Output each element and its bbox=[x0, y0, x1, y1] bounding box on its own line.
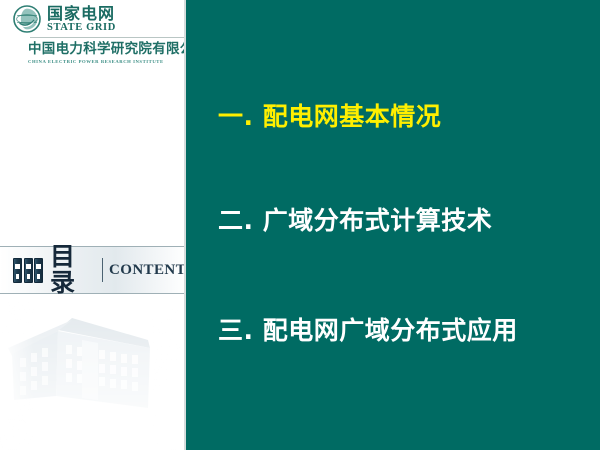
logo-divider-rule bbox=[30, 37, 185, 38]
state-grid-wordmark: 国家电网 STATE GRID bbox=[47, 4, 116, 34]
state-grid-globe-emblem-icon bbox=[13, 5, 41, 33]
company-name-cn: 国家电网 bbox=[47, 5, 116, 22]
institute-name-en: CHINA ELECTRIC POWER RESEARCH INSTITUTE bbox=[28, 58, 186, 65]
content-title-cn: 目录 bbox=[50, 244, 97, 296]
agenda-item-2[interactable]: 二. 广域分布式计算技术 bbox=[218, 206, 492, 236]
agenda-background: 一. 配电网基本情况 二. 广域分布式计算技术 三. 配电网广域分布式应用 bbox=[186, 3, 600, 450]
binders-icon bbox=[13, 257, 47, 283]
office-building-photo-watermark bbox=[0, 300, 186, 450]
presentation-slide: 国家电网 STATE GRID 中国电力科学研究院有限公司 CHINA ELEC… bbox=[0, 0, 600, 450]
content-title-separator bbox=[102, 258, 103, 282]
content-title-en: CONTENT bbox=[109, 262, 186, 278]
left-branding-panel: 国家电网 STATE GRID 中国电力科学研究院有限公司 CHINA ELEC… bbox=[0, 0, 186, 450]
institute-name-cn: 中国电力科学研究院有限公司 bbox=[28, 42, 186, 57]
institute-name-block: 中国电力科学研究院有限公司 CHINA ELECTRIC POWER RESEA… bbox=[28, 42, 186, 65]
agenda-item-1[interactable]: 一. 配电网基本情况 bbox=[218, 102, 441, 132]
agenda-item-3[interactable]: 三. 配电网广域分布式应用 bbox=[218, 316, 518, 346]
company-name-en: STATE GRID bbox=[47, 22, 116, 34]
content-label-band: 目录 CONTENT bbox=[0, 246, 186, 294]
agenda-list: 一. 配电网基本情况 二. 广域分布式计算技术 三. 配电网广域分布式应用 bbox=[186, 3, 600, 450]
state-grid-logo: 国家电网 STATE GRID bbox=[13, 4, 181, 34]
right-agenda-panel: 一. 配电网基本情况 二. 广域分布式计算技术 三. 配电网广域分布式应用 bbox=[186, 0, 600, 450]
